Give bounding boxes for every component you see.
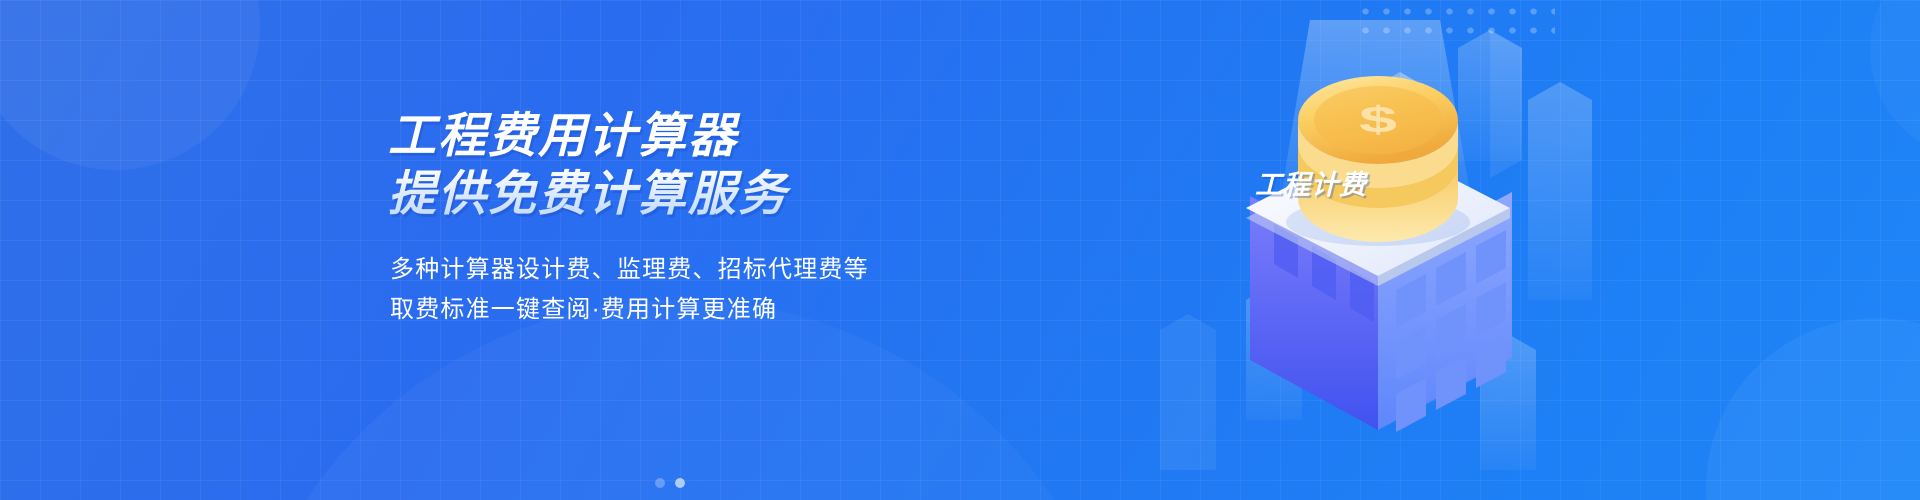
dollar-sign-icon: $ [1359,98,1397,140]
carousel-pagination[interactable] [655,478,685,488]
decor-circle-top-left [0,0,260,170]
carousel-dot-1[interactable] [655,478,665,488]
headline-line-2: 提供免费计算服务 [388,166,988,224]
carousel-dot-2[interactable] [675,478,685,488]
page-title: 工程费用计算器 提供免费计算服务 [388,108,988,224]
subtitle-line-2: 取费标准一键查阅·费用计算更准确 [390,290,988,330]
page-subtitle: 多种计算器设计费、监理费、招标代理费等 取费标准一键查阅·费用计算更准确 [390,250,988,330]
illustration-badge-label: 工程计费 [1255,163,1367,202]
coin-stack: $ [1286,76,1470,246]
decor-circle-bottom-left [230,300,1130,500]
headline-line-1: 工程费用计算器 [388,108,988,166]
hero-banner: $ 工程计费 工程费用计算器 提供免费计算服务 多种计算器设计费、监理费、招标代… [0,0,1920,500]
decor-circle-right [1706,318,1920,500]
hero-copy: 工程费用计算器 提供免费计算服务 多种计算器设计费、监理费、招标代理费等 取费标… [388,108,988,330]
subtitle-line-1: 多种计算器设计费、监理费、招标代理费等 [390,250,988,290]
decor-circle-far-right [1870,0,1920,160]
hero-illustration: $ [1060,0,1680,500]
svg-text:$: $ [1359,98,1397,140]
